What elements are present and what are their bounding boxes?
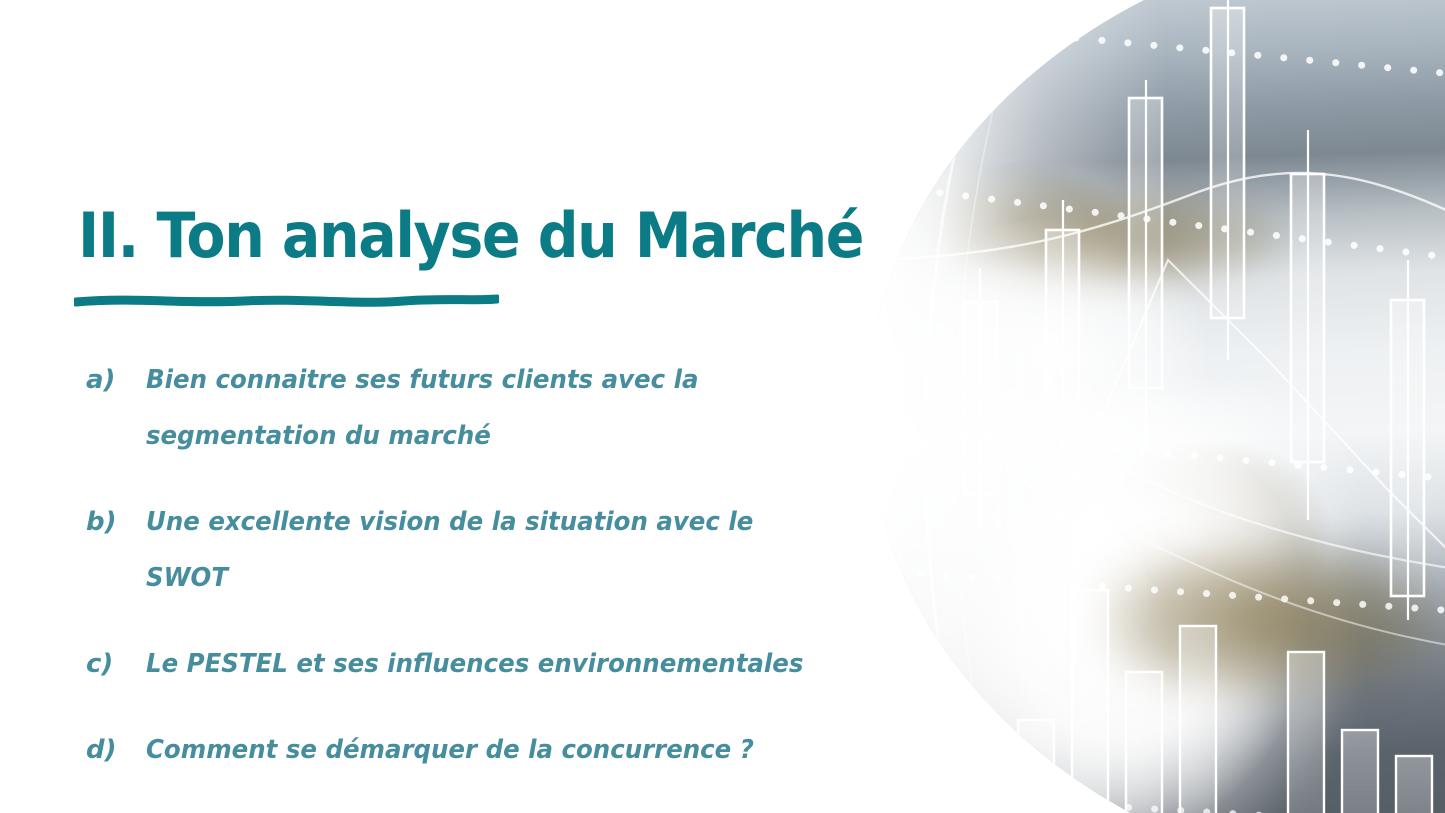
list-item: a) Bien connaitre ses futurs clients ave… [86, 352, 876, 464]
list-item: d) Comment se démarquer de la concurrenc… [86, 722, 876, 778]
list-item-marker: b) [86, 494, 146, 550]
list-item: b) Une excellente vision de la situation… [86, 494, 876, 606]
list-item-label: Une excellente vision de la situation av… [146, 494, 832, 606]
bullet-list: a) Bien connaitre ses futurs clients ave… [86, 352, 876, 808]
photo-left-fade [868, 0, 1167, 813]
list-item-marker: c) [86, 636, 146, 692]
list-item-label: Le PESTEL et ses influences environnemen… [146, 636, 832, 692]
list-item-label: Bien connaitre ses futurs clients avec l… [146, 352, 832, 464]
market-photo-panel: 0.6 ▼ 1.65 [868, 0, 1445, 813]
title-underline-stroke [74, 288, 499, 310]
list-item: c) Le PESTEL et ses influences environne… [86, 636, 876, 692]
list-item-marker: a) [86, 352, 146, 408]
list-item-marker: d) [86, 722, 146, 778]
list-item-label: Comment se démarquer de la concurrence ? [146, 722, 832, 778]
presentation-slide: 0.6 ▼ 1.65 II. Ton analyse du Marché a) … [0, 0, 1445, 813]
page-title: II. Ton analyse du Marché [78, 205, 863, 267]
